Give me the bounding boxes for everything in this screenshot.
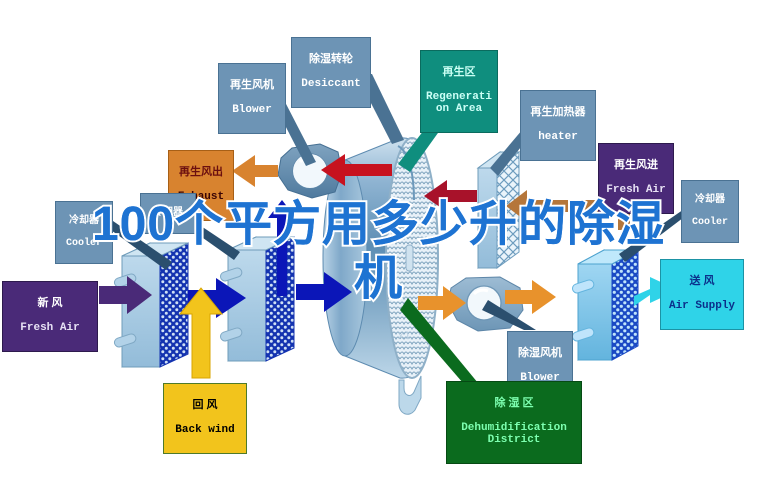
label-cooler-1-cn: 冷却器	[58, 215, 110, 226]
label-regeneration-heater[interactable]: 再生加热器 heater	[520, 90, 596, 161]
label-fresh-air-inlet[interactable]: 新 风 Fresh Air	[2, 281, 98, 352]
label-regeneration-air-inlet[interactable]: 再生风进 Fresh Air	[598, 143, 674, 214]
label-cooler-2[interactable]: 冷却器	[140, 193, 196, 234]
label-desiccant-en: Desiccant	[294, 78, 368, 90]
arrow-regen-blower-to-exhaust	[232, 155, 278, 187]
label-regeneration-area-en: Regenerati on Area	[423, 91, 495, 116]
label-regeneration-blower-en: Blower	[221, 104, 283, 116]
label-desiccant[interactable]: 除湿转轮 Desiccant	[291, 37, 371, 108]
label-regeneration-air-inlet-cn: 再生风进	[601, 159, 671, 171]
label-regeneration-heater-cn: 再生加热器	[523, 106, 593, 118]
diagram-canvas: 除湿转轮 Desiccant 再生风机 Blower 再生风出 Exhaust …	[0, 0, 757, 488]
label-regeneration-area-cn: 再生区	[423, 66, 495, 78]
label-back-wind-en: Back wind	[167, 424, 243, 436]
label-dehumidification-district-cn: 除 湿 区	[449, 397, 579, 409]
label-regeneration-air-inlet-en: Fresh Air	[601, 184, 671, 196]
label-cooler-3[interactable]: 冷却器 Cooler	[681, 180, 739, 243]
cooler-coil-1	[113, 243, 188, 367]
label-back-wind-cn: 回 风	[167, 399, 243, 411]
label-exhaust-cn: 再生风出	[171, 166, 231, 178]
label-dehumidification-blower-cn: 除湿风机	[510, 347, 570, 359]
label-air-supply-cn: 送 风	[663, 275, 741, 287]
wheel-watermark: x1	[398, 330, 412, 342]
label-air-supply-en: Air Supply	[663, 300, 741, 312]
condensate-tray	[399, 376, 421, 414]
label-cooler-3-en: Cooler	[684, 217, 736, 228]
label-regeneration-area[interactable]: 再生区 Regenerati on Area	[420, 50, 498, 133]
dehumidifier-schematic	[0, 0, 757, 488]
label-regeneration-heater-en: heater	[523, 131, 593, 143]
label-back-wind[interactable]: 回 风 Back wind	[163, 383, 247, 454]
label-cooler-1[interactable]: 冷却器 Cooler	[55, 201, 113, 264]
label-fresh-air-inlet-cn: 新 风	[5, 297, 95, 309]
label-cooler-3-cn: 冷却器	[684, 194, 736, 205]
label-dehumidification-district-en: Dehumidification District	[449, 422, 579, 447]
cooler-coil-3	[571, 250, 638, 360]
label-regeneration-blower[interactable]: 再生风机 Blower	[218, 63, 286, 134]
label-desiccant-cn: 除湿转轮	[294, 53, 368, 65]
label-dehumidification-district[interactable]: 除 湿 区 Dehumidification District	[446, 381, 582, 464]
label-air-supply[interactable]: 送 风 Air Supply	[660, 259, 744, 330]
label-cooler-2-cn: 冷却器	[143, 207, 193, 218]
label-cooler-1-en: Cooler	[58, 238, 110, 249]
label-regeneration-blower-cn: 再生风机	[221, 79, 283, 91]
label-fresh-air-inlet-en: Fresh Air	[5, 322, 95, 334]
